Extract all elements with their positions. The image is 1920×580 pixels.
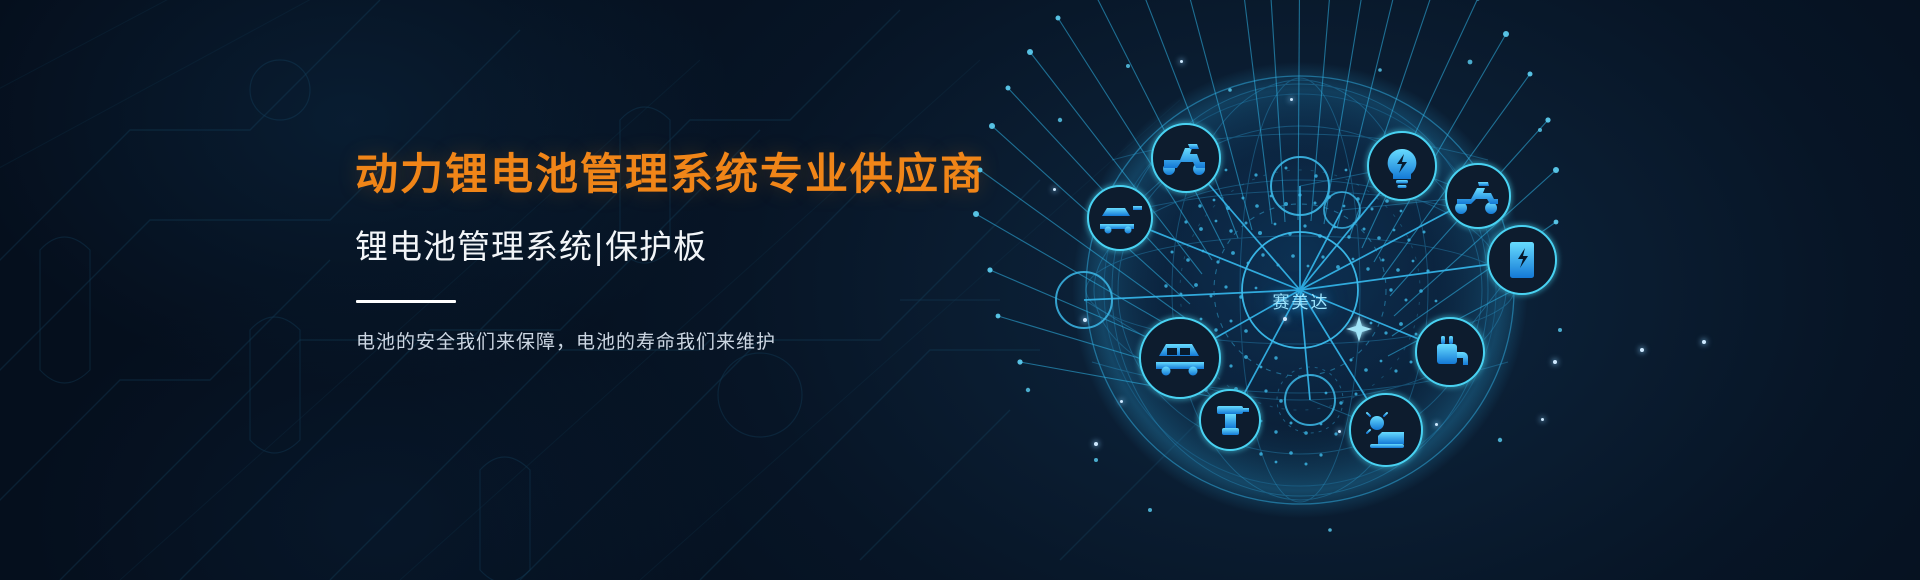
star-dot: [1640, 348, 1644, 352]
globe-network-illustration: [1000, 0, 1640, 580]
node-scooter[interactable]: [1152, 124, 1220, 192]
star-dot: [1338, 430, 1341, 433]
star-dot: [1283, 317, 1287, 321]
node-motorcycle[interactable]: [1446, 164, 1510, 228]
globe-svg: [1000, 0, 1640, 580]
hero-banner: 动力锂电池管理系统专业供应商 锂电池管理系统|保护板 电池的安全我们来保障，电池…: [0, 0, 1920, 580]
star-dot: [1053, 188, 1056, 191]
star-dot: [1702, 340, 1706, 344]
node-power-plug[interactable]: [1416, 318, 1484, 386]
title-divider: [356, 300, 456, 303]
node-car-charging[interactable]: [1088, 186, 1152, 250]
star-dot: [1094, 442, 1098, 446]
star-dot: [1541, 418, 1544, 421]
star-dot: [1435, 423, 1438, 426]
star-dot: [1120, 400, 1123, 403]
star-dot: [1083, 318, 1087, 322]
node-car[interactable]: [1140, 318, 1220, 398]
node-lightbulb-bolt[interactable]: [1368, 132, 1436, 200]
node-lawn-mower[interactable]: [1350, 394, 1422, 466]
node-power-drill[interactable]: [1200, 390, 1260, 450]
star-dot: [1553, 360, 1557, 364]
star-dot: [1290, 98, 1293, 101]
node-battery-bolt[interactable]: [1488, 226, 1556, 294]
star-dot: [1180, 60, 1183, 63]
